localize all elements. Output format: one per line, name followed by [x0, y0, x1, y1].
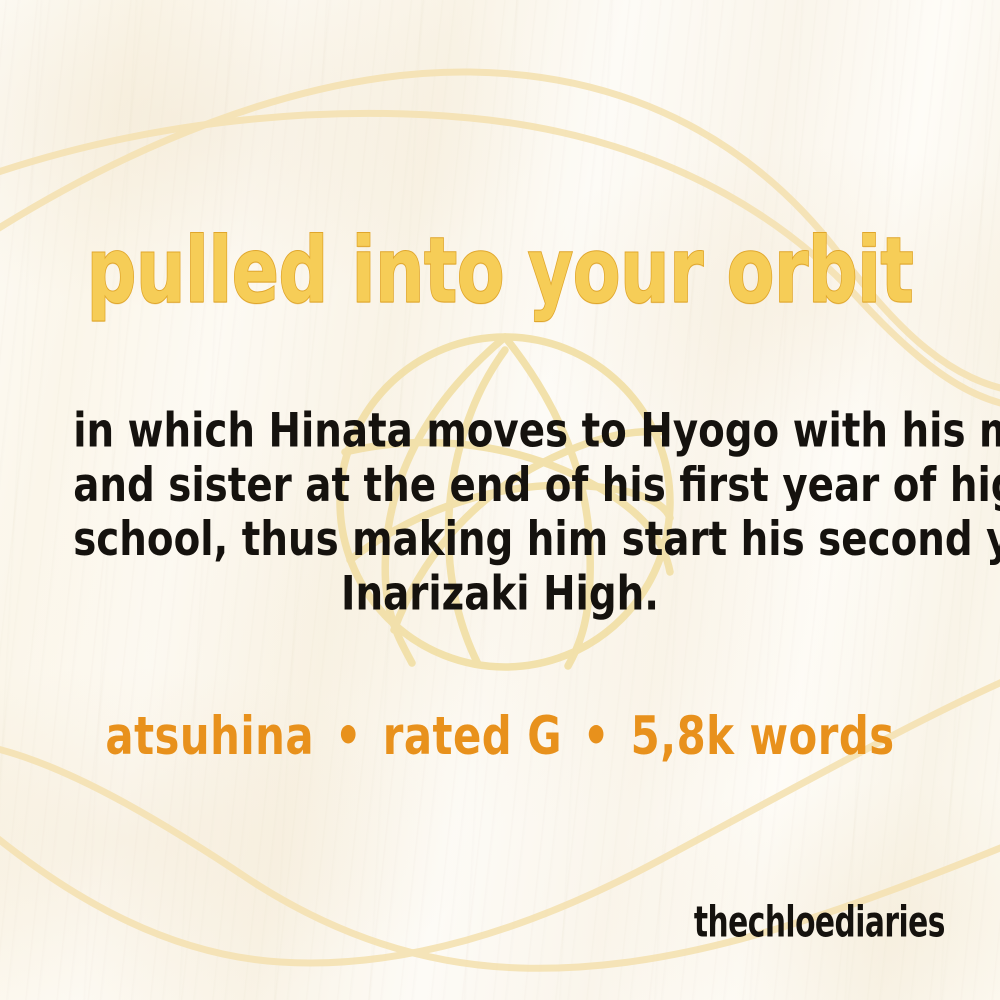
- summary-line: Inarizaki High.: [73, 567, 927, 621]
- meta-rating: rated G: [383, 706, 562, 767]
- fic-metadata: atsuhina • rated G • 5,8k words: [25, 706, 975, 767]
- summary-line: school, thus making him start his second…: [73, 513, 927, 567]
- graphic-card: pulled into your orbit in which Hinata m…: [0, 0, 1000, 1000]
- fic-summary: in which Hinata moves to Hyogo with his …: [73, 404, 927, 621]
- meta-separator-2: •: [577, 706, 616, 767]
- meta-separator-1: •: [329, 706, 368, 767]
- summary-line: in which Hinata moves to Hyogo with his …: [73, 404, 927, 458]
- fic-title: pulled into your orbit: [30, 226, 970, 316]
- meta-ship: atsuhina: [105, 706, 314, 767]
- meta-wordcount: 5,8k words: [631, 706, 895, 767]
- author-signature: thechloediaries: [694, 896, 945, 947]
- summary-line: and sister at the end of his first year …: [73, 458, 927, 512]
